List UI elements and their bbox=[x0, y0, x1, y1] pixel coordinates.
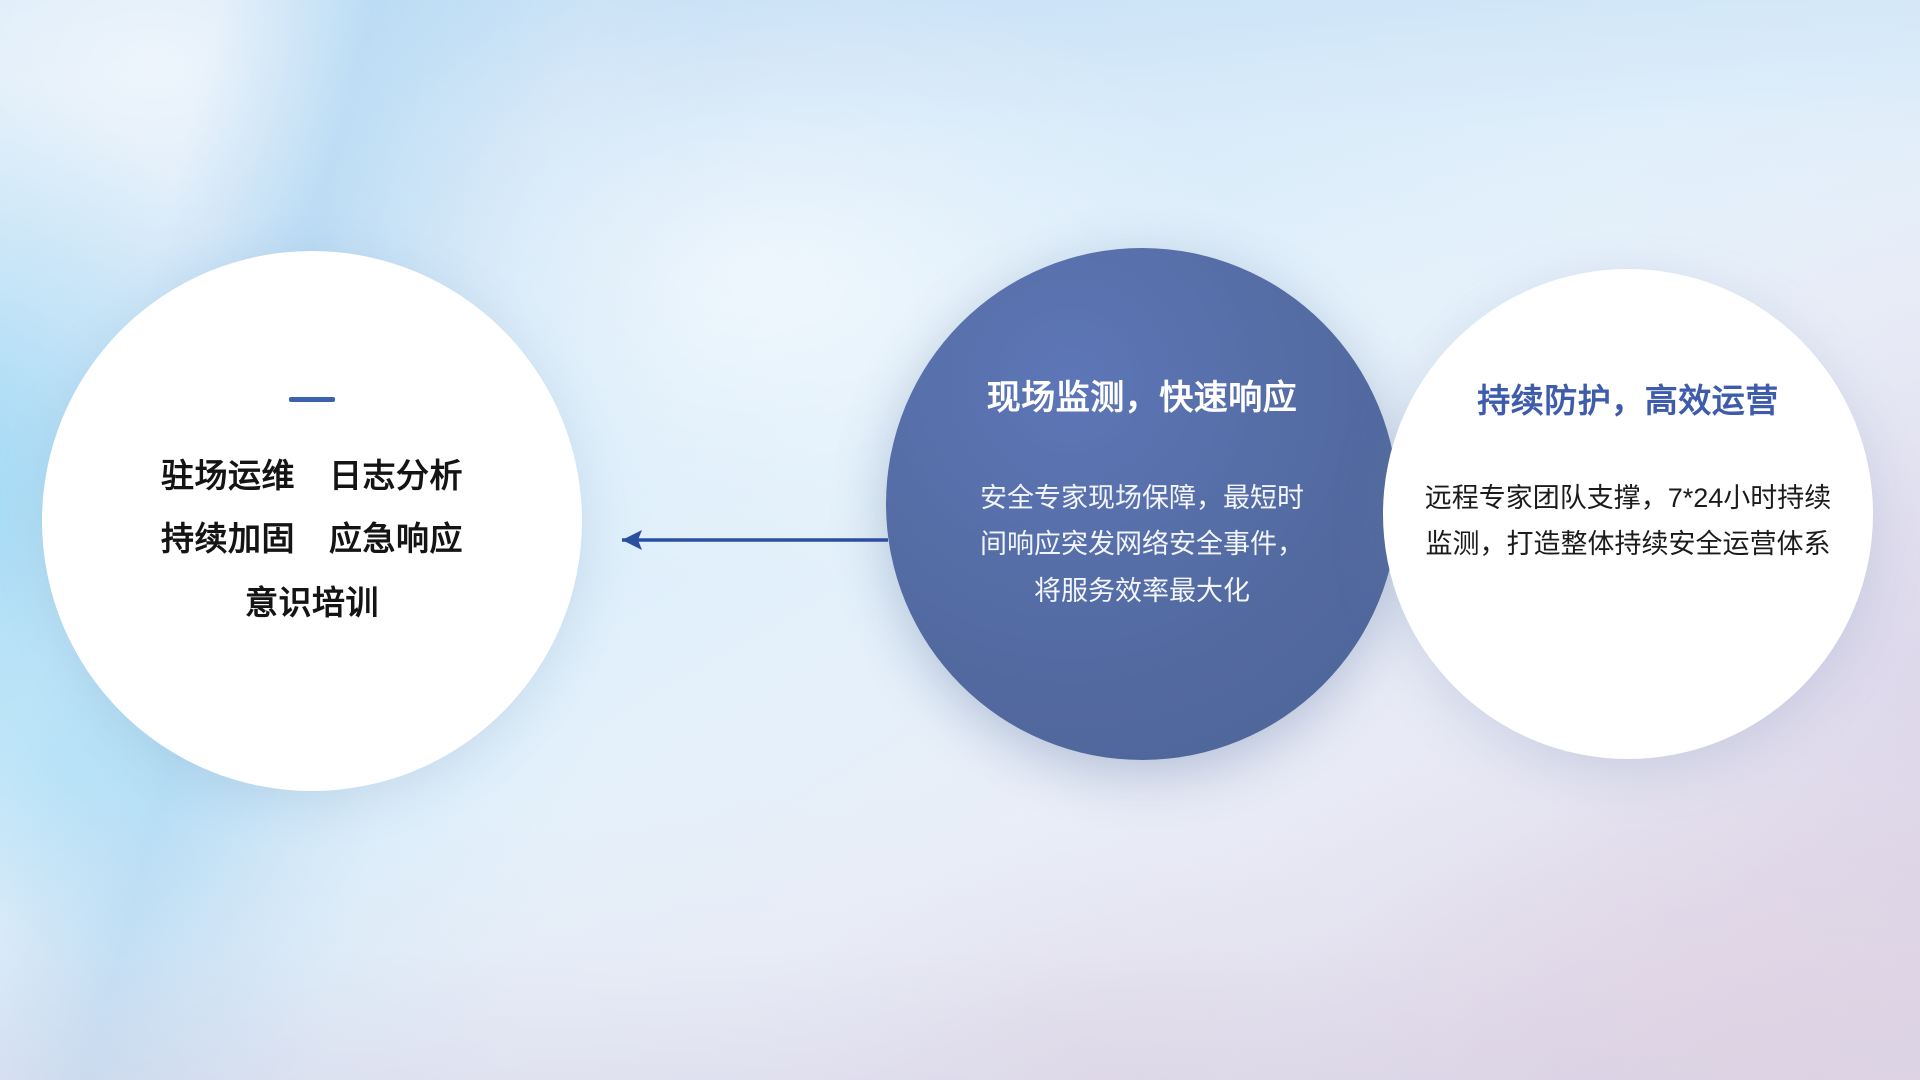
list-item: 持续加固应急响应 bbox=[161, 507, 463, 570]
continuous-body: 远程专家团队支撑，7*24小时持续监测，打造整体持续安全运营体系 bbox=[1423, 476, 1833, 568]
list-item: 意识培训 bbox=[161, 571, 463, 634]
services-list: 驻场运维日志分析 持续加固应急响应 意识培训 bbox=[161, 444, 463, 634]
onsite-title: 现场监测，快速响应 bbox=[987, 370, 1298, 419]
service-label: 驻场运维 bbox=[161, 457, 295, 494]
service-label: 应急响应 bbox=[329, 520, 463, 557]
list-item: 驻场运维日志分析 bbox=[161, 444, 463, 507]
horizontal-dash-divider-icon bbox=[289, 397, 335, 402]
continuous-title: 持续防护，高效运营 bbox=[1477, 374, 1779, 422]
continuous-protection-circle[interactable]: 持续防护，高效运营 远程专家团队支撑，7*24小时持续监测，打造整体持续安全运营… bbox=[1383, 269, 1873, 759]
service-label: 意识培训 bbox=[245, 584, 379, 621]
arrow-left-icon bbox=[600, 520, 890, 560]
services-circle[interactable]: 驻场运维日志分析 持续加固应急响应 意识培训 bbox=[42, 251, 582, 791]
service-label: 日志分析 bbox=[329, 457, 463, 494]
slide-canvas: 驻场运维日志分析 持续加固应急响应 意识培训 现场监测，快速响应 安全专家现场保… bbox=[0, 0, 1920, 1080]
service-label: 持续加固 bbox=[161, 520, 295, 557]
onsite-body: 安全专家现场保障，最短时间响应突发网络安全事件，将服务效率最大化 bbox=[974, 475, 1310, 614]
onsite-monitoring-circle[interactable]: 现场监测，快速响应 安全专家现场保障，最短时间响应突发网络安全事件，将服务效率最… bbox=[886, 248, 1398, 760]
